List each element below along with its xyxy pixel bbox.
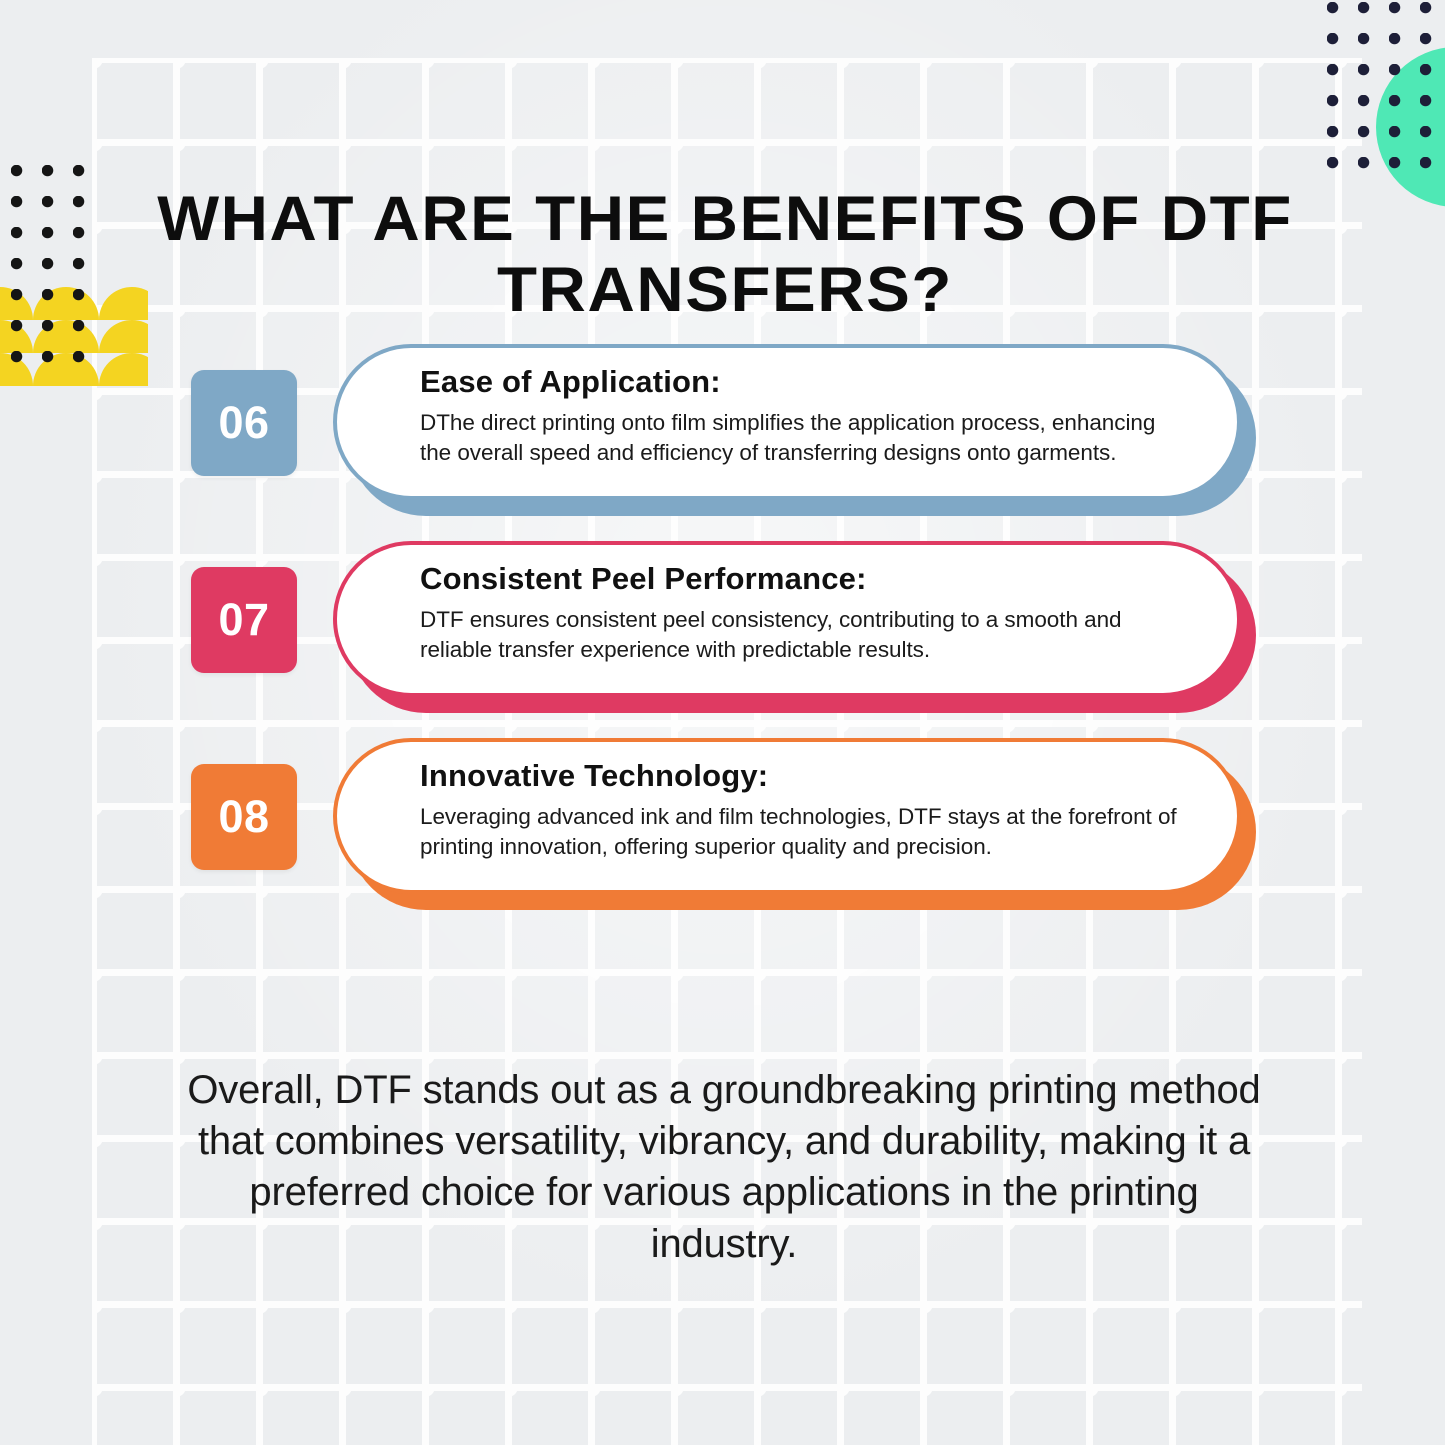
- benefit-card[interactable]: Consistent Peel Performance: DTF ensures…: [333, 541, 1241, 697]
- benefit-card[interactable]: Innovative Technology: Leveraging advanc…: [333, 738, 1241, 894]
- background-top-margin: [0, 0, 1445, 58]
- dot-grid-top-right-decoration: [1327, 2, 1445, 178]
- benefit-card-title: Ease of Application:: [420, 365, 1185, 399]
- benefit-number-badge: 07: [191, 567, 297, 673]
- benefit-card-body: DTF ensures consistent peel consistency,…: [420, 605, 1185, 665]
- benefit-card-body: Leveraging advanced ink and film technol…: [420, 802, 1185, 862]
- infographic-poster: WHAT ARE THE BENEFITS OF DTF TRANSFERS? …: [0, 0, 1445, 1445]
- benefit-card[interactable]: Ease of Application: DThe direct printin…: [333, 344, 1241, 500]
- benefit-card-row: 07 Consistent Peel Performance: DTF ensu…: [0, 541, 1445, 738]
- benefit-card-title: Consistent Peel Performance:: [420, 562, 1185, 596]
- dot-grid-left-decoration: [11, 165, 103, 365]
- benefit-number-badge: 08: [191, 764, 297, 870]
- benefit-card-row: 08 Innovative Technology: Leveraging adv…: [0, 738, 1445, 935]
- summary-paragraph: Overall, DTF stands out as a groundbreak…: [178, 1065, 1270, 1270]
- benefit-card-body: DThe direct printing onto film simplifie…: [420, 408, 1185, 468]
- benefit-number-badge: 06: [191, 370, 297, 476]
- benefit-card-title: Innovative Technology:: [420, 759, 1185, 793]
- benefit-card-row: 06 Ease of Application: DThe direct prin…: [0, 344, 1445, 541]
- page-title: WHAT ARE THE BENEFITS OF DTF TRANSFERS?: [127, 184, 1323, 325]
- benefit-card-list: 06 Ease of Application: DThe direct prin…: [0, 344, 1445, 935]
